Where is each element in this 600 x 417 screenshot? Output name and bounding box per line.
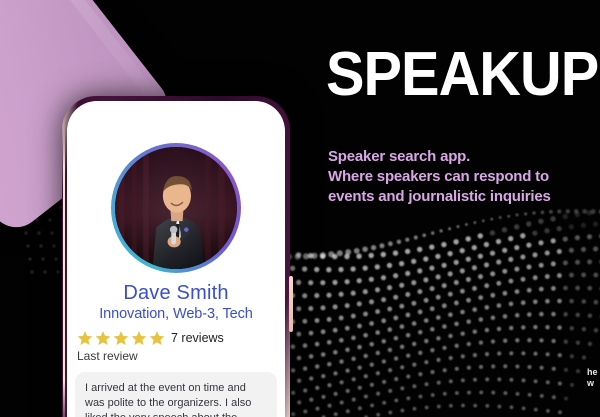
phone-edge-highlight: [63, 116, 65, 417]
review-text: I arrived at the event on time and was p…: [85, 381, 267, 417]
corner-note: he w: [587, 367, 600, 389]
description-line-2: Where speakers can respond to: [328, 167, 600, 187]
promo-slide: Dave Smith Innovation, Web-3, Tech 7 rev…: [0, 0, 600, 417]
star-icon[interactable]: [113, 330, 129, 346]
phone-mockup: Dave Smith Innovation, Web-3, Tech 7 rev…: [62, 96, 290, 417]
star-icon[interactable]: [77, 330, 93, 346]
star-rating[interactable]: [77, 330, 165, 346]
corner-note-line-2: w: [587, 378, 600, 389]
phone-screen: Dave Smith Innovation, Web-3, Tech 7 rev…: [67, 101, 285, 417]
avatar-ring: [111, 143, 241, 273]
star-icon[interactable]: [149, 330, 165, 346]
review-card[interactable]: I arrived at the event on time and was p…: [75, 372, 277, 417]
phone-power-button[interactable]: [289, 276, 293, 332]
description-line-3: events and journalistic inquiries: [328, 187, 600, 207]
page-title: SPEAKUP: [326, 44, 598, 106]
description-line-1: Speaker search app.: [328, 147, 600, 167]
speaker-topics: Innovation, Web-3, Tech: [67, 306, 285, 322]
reviews-count[interactable]: 7 reviews: [171, 331, 224, 345]
star-icon[interactable]: [131, 330, 147, 346]
speaker-name: Dave Smith: [67, 282, 285, 305]
corner-note-line-1: he: [587, 367, 600, 378]
description-block: Speaker search app. Where speakers can r…: [328, 147, 600, 207]
rating-row: 7 reviews: [77, 330, 285, 346]
last-review-label: Last review: [77, 349, 285, 363]
star-icon[interactable]: [95, 330, 111, 346]
avatar: [115, 147, 237, 269]
